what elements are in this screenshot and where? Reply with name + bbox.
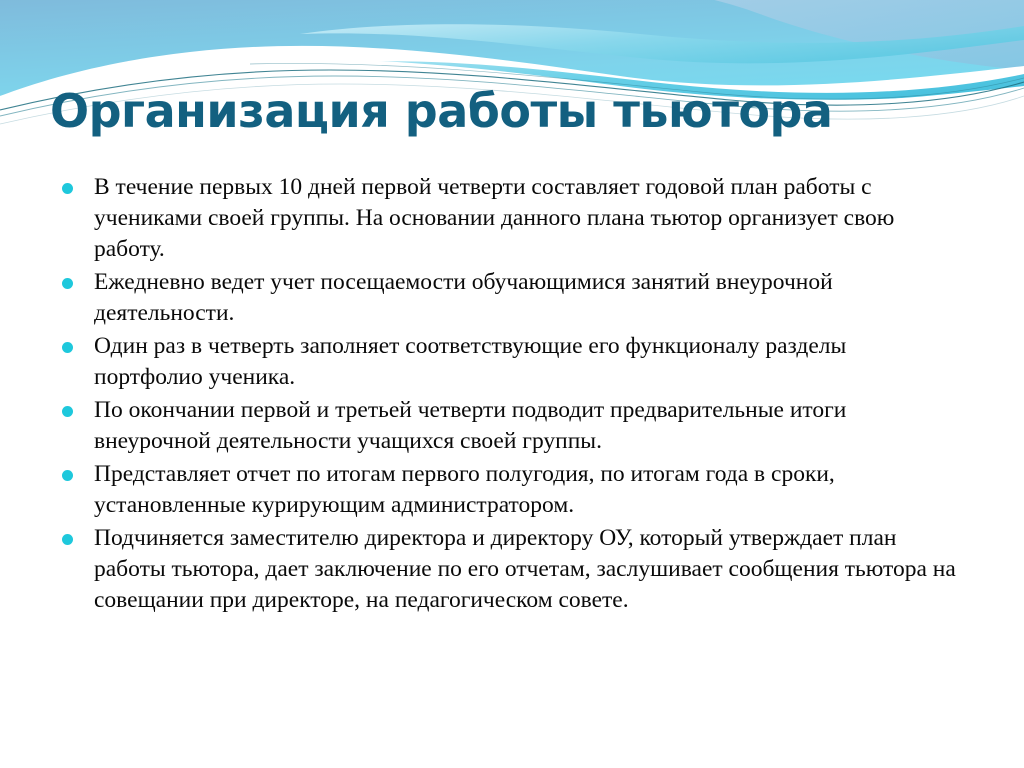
list-item-text: Подчиняется заместителю директора и дире… bbox=[94, 523, 956, 616]
bullet-dot-icon bbox=[62, 534, 73, 545]
bullet-list: В течение первых 10 дней первой четверти… bbox=[56, 172, 956, 618]
bullet-dot-icon bbox=[62, 470, 73, 481]
list-item-text: Ежедневно ведет учет посещаемости обучаю… bbox=[94, 267, 956, 329]
list-item-text: Один раз в четверть заполняет соответств… bbox=[94, 331, 956, 393]
list-item-text: Представляет отчет по итогам первого пол… bbox=[94, 459, 956, 521]
list-item: По окончании первой и третьей четверти п… bbox=[56, 395, 956, 457]
bullet-dot-icon bbox=[62, 342, 73, 353]
list-item: Ежедневно ведет учет посещаемости обучаю… bbox=[56, 267, 956, 329]
list-item-text: В течение первых 10 дней первой четверти… bbox=[94, 172, 956, 265]
list-item: Представляет отчет по итогам первого пол… bbox=[56, 459, 956, 521]
list-item: В течение первых 10 дней первой четверти… bbox=[56, 172, 956, 265]
bullet-dot-icon bbox=[62, 183, 73, 194]
list-item: Один раз в четверть заполняет соответств… bbox=[56, 331, 956, 393]
presentation-slide: Организация работы тьютора В течение пер… bbox=[0, 0, 1024, 768]
list-item-text: По окончании первой и третьей четверти п… bbox=[94, 395, 956, 457]
list-item: Подчиняется заместителю директора и дире… bbox=[56, 523, 956, 616]
bullet-dot-icon bbox=[62, 406, 73, 417]
bullet-dot-icon bbox=[62, 278, 73, 289]
page-title: Организация работы тьютора bbox=[50, 82, 980, 140]
